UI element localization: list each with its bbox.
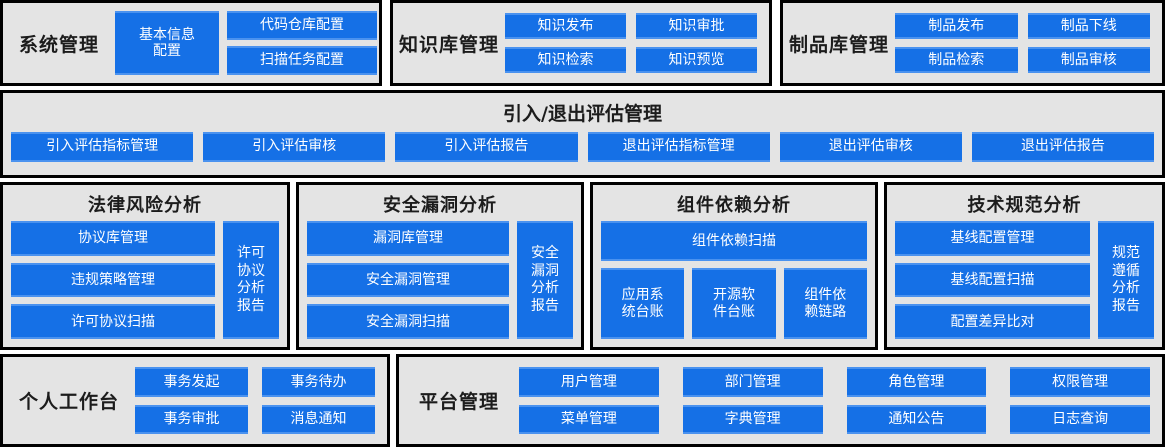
button-component-dependency-chain[interactable]: 组件依 赖链路 bbox=[784, 268, 867, 339]
panel-title-technical-specification-analysis: 技术规范分析 bbox=[887, 185, 1162, 221]
button-artifact-audit[interactable]: 制品审核 bbox=[1028, 47, 1151, 73]
workbench-button-grid: 事务发起 事务待办 事务审批 消息通知 bbox=[135, 357, 387, 444]
button-intro-eval-audit[interactable]: 引入评估审核 bbox=[203, 132, 385, 162]
panel-technical-specification-analysis: 技术规范分析 基线配置管理 基线配置扫描 配置差异比对 规范 遵循 分析 报告 bbox=[884, 182, 1165, 350]
panel-title-knowledge-base-management: 知识库管理 bbox=[393, 30, 505, 57]
button-exit-eval-indicator-mgmt[interactable]: 退出评估指标管理 bbox=[588, 132, 770, 162]
button-user-management[interactable]: 用户管理 bbox=[519, 367, 659, 397]
button-scan-task-config[interactable]: 扫描任务配置 bbox=[227, 46, 377, 75]
button-menu-management[interactable]: 菜单管理 bbox=[519, 405, 659, 435]
button-artifact-publish[interactable]: 制品发布 bbox=[895, 13, 1018, 39]
button-notification-announcement[interactable]: 通知公告 bbox=[847, 405, 987, 435]
button-intro-eval-indicator-mgmt[interactable]: 引入评估指标管理 bbox=[11, 132, 193, 162]
button-vulnerability-library-mgmt[interactable]: 漏洞库管理 bbox=[307, 221, 509, 256]
button-knowledge-search[interactable]: 知识检索 bbox=[505, 47, 626, 73]
panel-legal-risk-analysis: 法律风险分析 协议库管理 违规策略管理 许可协议扫描 许可 协议 分析 报告 bbox=[0, 182, 290, 350]
panel-system-management: 系统管理 基本信息 配置 代码仓库配置 扫描任务配置 bbox=[0, 0, 382, 86]
knowledge-button-grid: 知识发布 知识审批 知识检索 知识预览 bbox=[505, 3, 769, 83]
button-message-notification[interactable]: 消息通知 bbox=[262, 405, 375, 435]
platform-button-grid: 用户管理 部门管理 角色管理 权限管理 菜单管理 字典管理 通知公告 日志查询 bbox=[519, 357, 1162, 444]
button-intro-eval-report[interactable]: 引入评估报告 bbox=[395, 132, 577, 162]
panel-title-legal-risk-analysis: 法律风险分析 bbox=[3, 185, 287, 221]
panel-security-vulnerability-analysis: 安全漏洞分析 漏洞库管理 安全漏洞管理 安全漏洞扫描 安全 漏洞 分析 报告 bbox=[296, 182, 584, 350]
panel-introduction-exit-evaluation-management: 引入/退出评估管理 引入评估指标管理 引入评估审核 引入评估报告 退出评估指标管… bbox=[0, 90, 1165, 178]
button-security-vulnerability-scan[interactable]: 安全漏洞扫描 bbox=[307, 304, 509, 339]
panel-title-security-vulnerability-analysis: 安全漏洞分析 bbox=[299, 185, 581, 221]
button-exit-eval-audit[interactable]: 退出评估审核 bbox=[780, 132, 962, 162]
panel-title-artifact-repository-management: 制品库管理 bbox=[783, 30, 895, 57]
button-security-analysis-report[interactable]: 安全 漏洞 分析 报告 bbox=[517, 221, 573, 339]
panel-title-component-dependency-analysis: 组件依赖分析 bbox=[593, 185, 875, 221]
button-baseline-config-scan[interactable]: 基线配置扫描 bbox=[895, 263, 1090, 298]
component-ledger-row: 应用系 统台账 开源软 件台账 组件依 赖链路 bbox=[601, 268, 867, 339]
button-license-analysis-report[interactable]: 许可 协议 分析 报告 bbox=[223, 221, 279, 339]
panel-component-dependency-analysis: 组件依赖分析 组件依赖扫描 应用系 统台账 开源软 件台账 组件依 赖链路 bbox=[590, 182, 878, 350]
panel-system-management-body: 基本信息 配置 代码仓库配置 扫描任务配置 bbox=[115, 3, 385, 83]
button-specification-compliance-report[interactable]: 规范 遵循 分析 报告 bbox=[1098, 221, 1154, 339]
button-department-management[interactable]: 部门管理 bbox=[683, 367, 823, 397]
button-artifact-search[interactable]: 制品检索 bbox=[895, 47, 1018, 73]
panel-knowledge-base-management: 知识库管理 知识发布 知识审批 知识检索 知识预览 bbox=[390, 0, 772, 86]
security-button-stack: 漏洞库管理 安全漏洞管理 安全漏洞扫描 bbox=[307, 221, 509, 339]
system-config-column: 代码仓库配置 扫描任务配置 bbox=[227, 3, 377, 83]
button-config-difference-comparison[interactable]: 配置差异比对 bbox=[895, 304, 1090, 339]
legal-risk-body: 协议库管理 违规策略管理 许可协议扫描 许可 协议 分析 报告 bbox=[3, 221, 287, 347]
button-knowledge-preview[interactable]: 知识预览 bbox=[636, 47, 757, 73]
button-application-system-ledger[interactable]: 应用系 统台账 bbox=[601, 268, 684, 339]
button-open-source-software-ledger[interactable]: 开源软 件台账 bbox=[692, 268, 775, 339]
artifact-button-grid: 制品发布 制品下线 制品检索 制品审核 bbox=[895, 3, 1162, 83]
button-license-library-mgmt[interactable]: 协议库管理 bbox=[11, 221, 215, 256]
button-license-agreement-scan[interactable]: 许可协议扫描 bbox=[11, 304, 215, 339]
legal-risk-side-column: 许可 协议 分析 报告 bbox=[223, 221, 279, 339]
button-code-repo-config[interactable]: 代码仓库配置 bbox=[227, 11, 377, 40]
button-exit-eval-report[interactable]: 退出评估报告 bbox=[972, 132, 1154, 162]
component-dependency-body: 组件依赖扫描 应用系 统台账 开源软 件台账 组件依 赖链路 bbox=[593, 221, 875, 347]
button-task-approval[interactable]: 事务审批 bbox=[135, 405, 248, 435]
button-basic-info-config[interactable]: 基本信息 配置 bbox=[115, 11, 219, 75]
legal-risk-button-stack: 协议库管理 违规策略管理 许可协议扫描 bbox=[11, 221, 215, 339]
button-knowledge-publish[interactable]: 知识发布 bbox=[505, 13, 626, 39]
button-baseline-config-mgmt[interactable]: 基线配置管理 bbox=[895, 221, 1090, 256]
button-log-query[interactable]: 日志查询 bbox=[1010, 405, 1150, 435]
technical-side-column: 规范 遵循 分析 报告 bbox=[1098, 221, 1154, 339]
button-violation-policy-mgmt[interactable]: 违规策略管理 bbox=[11, 263, 215, 298]
button-task-initiate[interactable]: 事务发起 bbox=[135, 367, 248, 397]
button-dictionary-management[interactable]: 字典管理 bbox=[683, 405, 823, 435]
button-knowledge-approval[interactable]: 知识审批 bbox=[636, 13, 757, 39]
evaluation-button-row: 引入评估指标管理 引入评估审核 引入评估报告 退出评估指标管理 退出评估审核 退… bbox=[3, 126, 1162, 175]
technical-button-stack: 基线配置管理 基线配置扫描 配置差异比对 bbox=[895, 221, 1090, 339]
panel-platform-management: 平台管理 用户管理 部门管理 角色管理 权限管理 菜单管理 字典管理 通知公告 … bbox=[396, 354, 1165, 447]
system-function-map: 系统管理 基本信息 配置 代码仓库配置 扫描任务配置 知识库管理 知识发布 知识… bbox=[0, 0, 1165, 447]
button-task-todo[interactable]: 事务待办 bbox=[262, 367, 375, 397]
panel-title-introduction-exit-evaluation: 引入/退出评估管理 bbox=[3, 99, 1162, 126]
security-vulnerability-body: 漏洞库管理 安全漏洞管理 安全漏洞扫描 安全 漏洞 分析 报告 bbox=[299, 221, 581, 347]
button-artifact-offline[interactable]: 制品下线 bbox=[1028, 13, 1151, 39]
button-component-dependency-scan[interactable]: 组件依赖扫描 bbox=[601, 221, 867, 261]
security-side-column: 安全 漏洞 分析 报告 bbox=[517, 221, 573, 339]
technical-specification-body: 基线配置管理 基线配置扫描 配置差异比对 规范 遵循 分析 报告 bbox=[887, 221, 1162, 347]
button-security-vulnerability-mgmt[interactable]: 安全漏洞管理 bbox=[307, 263, 509, 298]
panel-title-personal-workbench: 个人工作台 bbox=[3, 387, 135, 414]
panel-personal-workbench: 个人工作台 事务发起 事务待办 事务审批 消息通知 bbox=[0, 354, 390, 447]
button-permission-management[interactable]: 权限管理 bbox=[1010, 367, 1150, 397]
panel-artifact-repository-management: 制品库管理 制品发布 制品下线 制品检索 制品审核 bbox=[780, 0, 1165, 86]
panel-title-platform-management: 平台管理 bbox=[399, 387, 519, 414]
button-role-management[interactable]: 角色管理 bbox=[847, 367, 987, 397]
system-basic-info-column: 基本信息 配置 bbox=[115, 3, 219, 83]
panel-title-system-management: 系统管理 bbox=[3, 30, 115, 57]
